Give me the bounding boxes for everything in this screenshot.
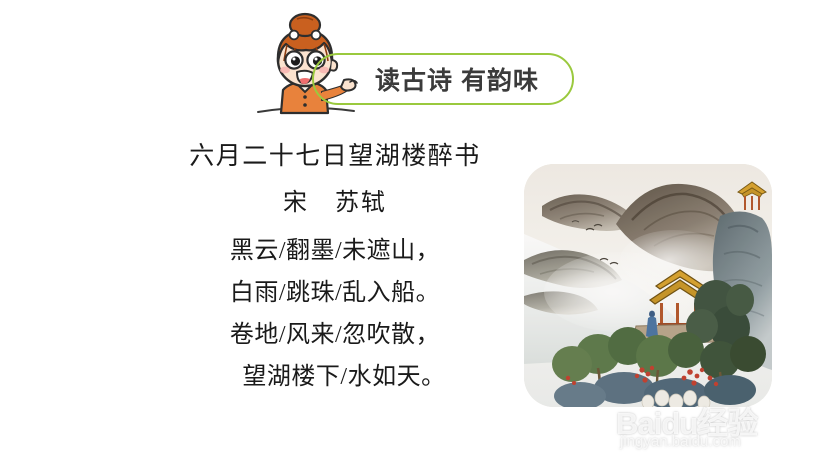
banner-title-label: 读古诗 有韵味: [342, 52, 572, 106]
poem-line-1: 黑云/翻墨/未遮山，: [160, 230, 510, 272]
slide-canvas: 读古诗 有韵味 六月二十七日望湖楼醉书 宋 苏轼 黑云/翻墨/未遮山， 白雨/跳…: [0, 0, 828, 467]
header-banner: 读古诗 有韵味: [250, 12, 580, 122]
poem-line-3: 卷地/风来/忽吹散，: [160, 314, 510, 356]
poem-line-2: 白雨/跳珠/乱入船。: [160, 272, 510, 314]
poem-byline: 宋 苏轼: [160, 186, 510, 220]
poem-title: 六月二十七日望湖楼醉书: [160, 140, 510, 174]
watermark-url: jingyan.baidu.com: [620, 433, 741, 450]
poem-line-4: 望湖楼下/水如天。: [160, 356, 510, 398]
poem-block: 六月二十七日望湖楼醉书 宋 苏轼 黑云/翻墨/未遮山， 白雨/跳珠/乱入船。 卷…: [160, 140, 510, 398]
landscape-painting-image: [524, 164, 772, 407]
